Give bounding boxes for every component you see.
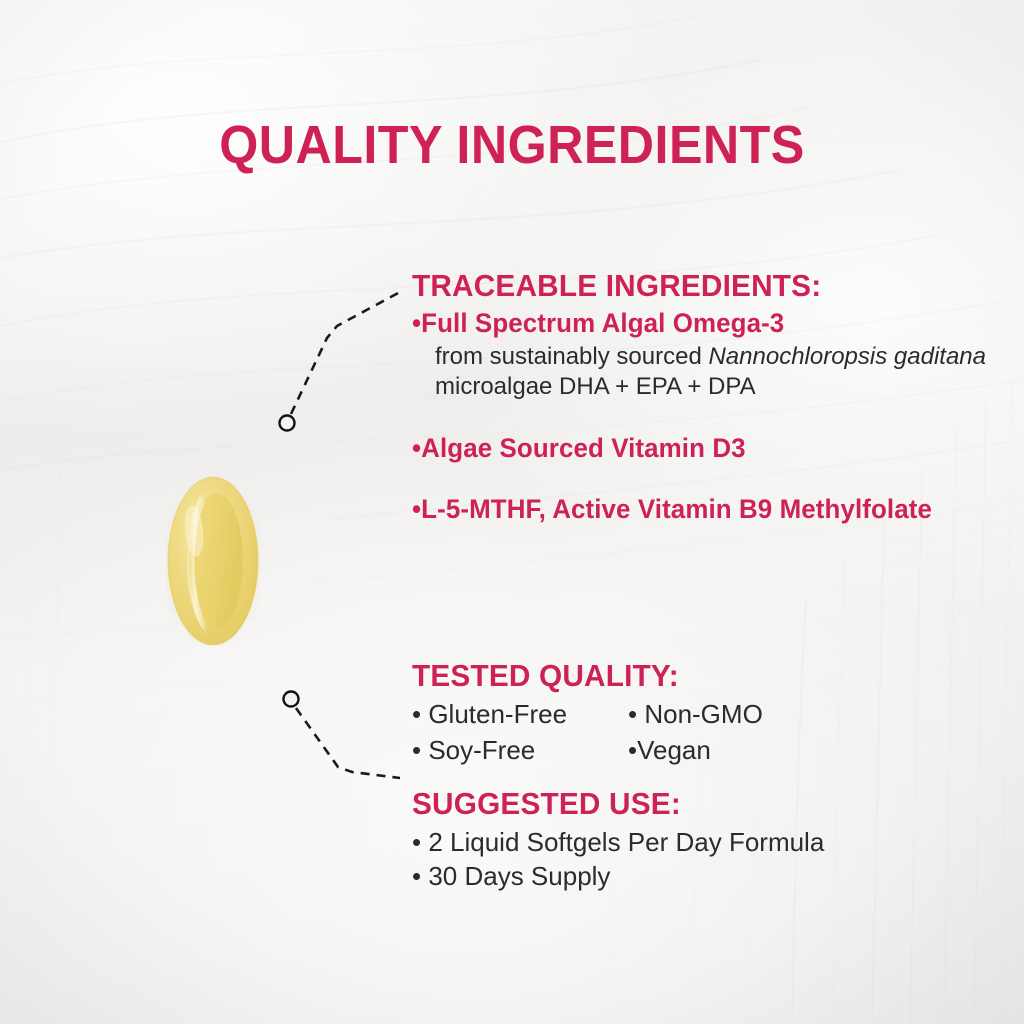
ingredient-item-methylfolate: •L-5-MTHF, Active Vitamin B9 Methylfolat…	[412, 494, 988, 524]
tested-quality-block: TESTED QUALITY: • Gluten-Free • Non-GMO …	[412, 659, 763, 768]
bullet-glyph: •	[412, 308, 421, 338]
golden-softgel-capsule	[166, 476, 260, 646]
list-item: • Non-GMO	[628, 698, 763, 732]
list-item: • Soy-Free	[412, 734, 628, 768]
tested-quality-heading: TESTED QUALITY:	[412, 659, 749, 692]
infographic-poster: QUALITY INGREDIENTS TRACEABLE INGREDIENT…	[0, 0, 1024, 1024]
ingredient-item-omega3: •Full Spectrum Algal Omega-3 from sustai…	[412, 308, 1012, 403]
bullet-glyph: •	[412, 494, 421, 524]
ingredient-omega3-title: •Full Spectrum Algal Omega-3	[412, 308, 988, 338]
suggested-use-heading: SUGGESTED USE:	[412, 787, 808, 820]
ingredient-omega3-detail: from sustainably sourced Nannochloropsis…	[412, 342, 1012, 403]
ingredient-item-vitamin-d3: •Algae Sourced Vitamin D3	[412, 433, 988, 463]
traceable-ingredients-block: TRACEABLE INGREDIENTS: •Full Spectrum Al…	[412, 269, 1012, 525]
traceable-ingredients-heading: TRACEABLE INGREDIENTS:	[412, 269, 988, 302]
page-title: QUALITY INGREDIENTS	[36, 118, 988, 172]
bullet-glyph: •	[412, 433, 421, 463]
detail-species-italic: Nannochloropsis gaditana	[708, 343, 986, 370]
suggested-use-block: SUGGESTED USE: • 2 Liquid Softgels Per D…	[412, 787, 824, 894]
list-item: • Gluten-Free	[412, 698, 628, 732]
tested-quality-list: • Gluten-Free • Non-GMO • Soy-Free •Vega…	[412, 698, 763, 768]
suggested-use-list: • 2 Liquid Softgels Per Day Formula • 30…	[412, 826, 824, 894]
list-item: • 2 Liquid Softgels Per Day Formula	[412, 826, 824, 860]
detail-tail: microalgae DHA + EPA + DPA	[435, 373, 756, 400]
list-item: •Vegan	[628, 734, 763, 768]
detail-lead: from sustainably sourced	[435, 343, 708, 370]
list-item: • 30 Days Supply	[412, 860, 824, 894]
